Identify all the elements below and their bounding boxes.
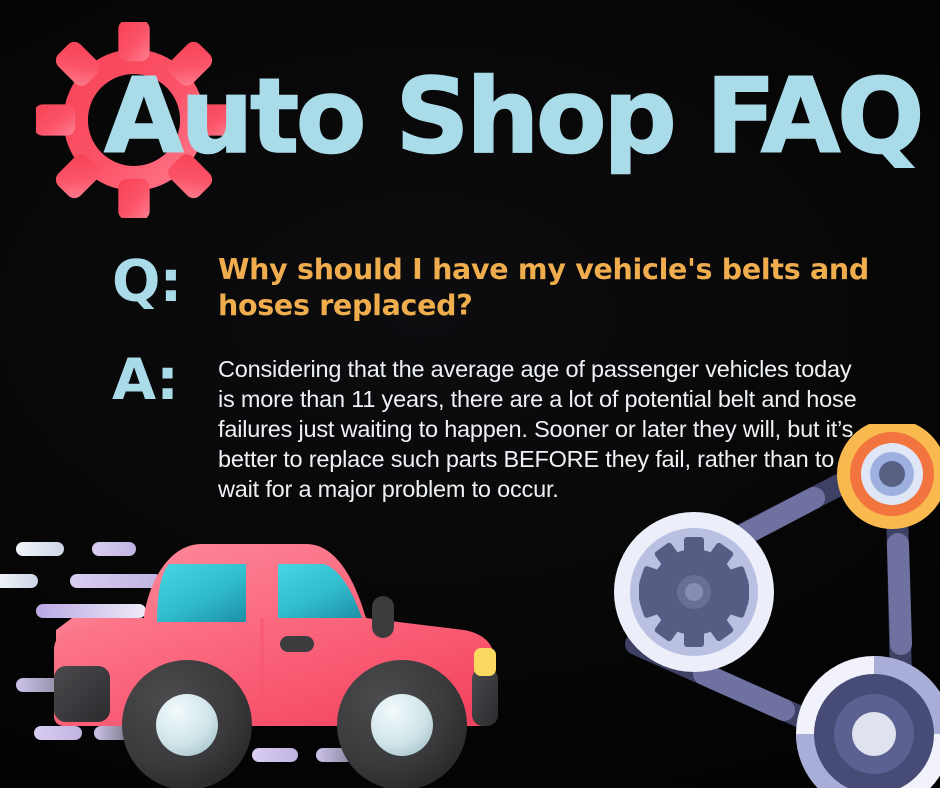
- auto-shop-faq-poster: Auto Shop FAQ Q: Why should I have my ve…: [0, 0, 940, 788]
- page-title: Auto Shop FAQ: [104, 66, 921, 169]
- answer-text: Considering that the average age of pass…: [218, 346, 858, 504]
- gear-pulley: [614, 512, 774, 672]
- question-row: Q: Why should I have my vehicle's belts …: [112, 248, 872, 324]
- answer-marker: A:: [112, 346, 218, 409]
- faq-block: Q: Why should I have my vehicle's belts …: [112, 248, 872, 504]
- question-text: Why should I have my vehicle's belts and…: [218, 248, 872, 324]
- car-illustration: [0, 526, 534, 788]
- answer-row: A: Considering that the average age of p…: [112, 346, 872, 504]
- question-marker: Q:: [112, 248, 218, 311]
- round-pulley: [796, 656, 940, 788]
